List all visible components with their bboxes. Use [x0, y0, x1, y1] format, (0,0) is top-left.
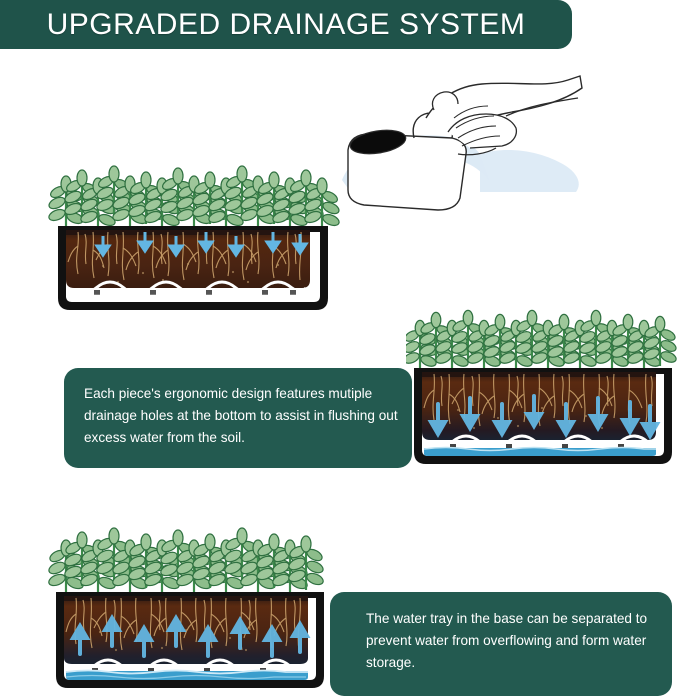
foliage	[47, 528, 325, 594]
watering-can-illustration	[330, 58, 590, 248]
page-title: UPGRADED DRAINAGE SYSTEM	[33, 8, 526, 42]
callout-drainage-holes: Each piece's ergonomic design features m…	[64, 368, 412, 468]
callout-text: The water tray in the base can be separa…	[366, 611, 647, 670]
planter-illustration-wicking	[44, 512, 344, 691]
foliage	[406, 310, 678, 370]
water-pool	[480, 150, 579, 192]
water-reservoir	[424, 448, 656, 456]
foliage	[48, 166, 341, 230]
callout-water-tray: The water tray in the base can be separa…	[330, 592, 672, 696]
planter-illustration-draining	[406, 300, 679, 475]
header-banner: UPGRADED DRAINAGE SYSTEM	[0, 0, 572, 49]
callout-text: Each piece's ergonomic design features m…	[84, 386, 398, 445]
planter-illustration-watering	[48, 138, 348, 323]
